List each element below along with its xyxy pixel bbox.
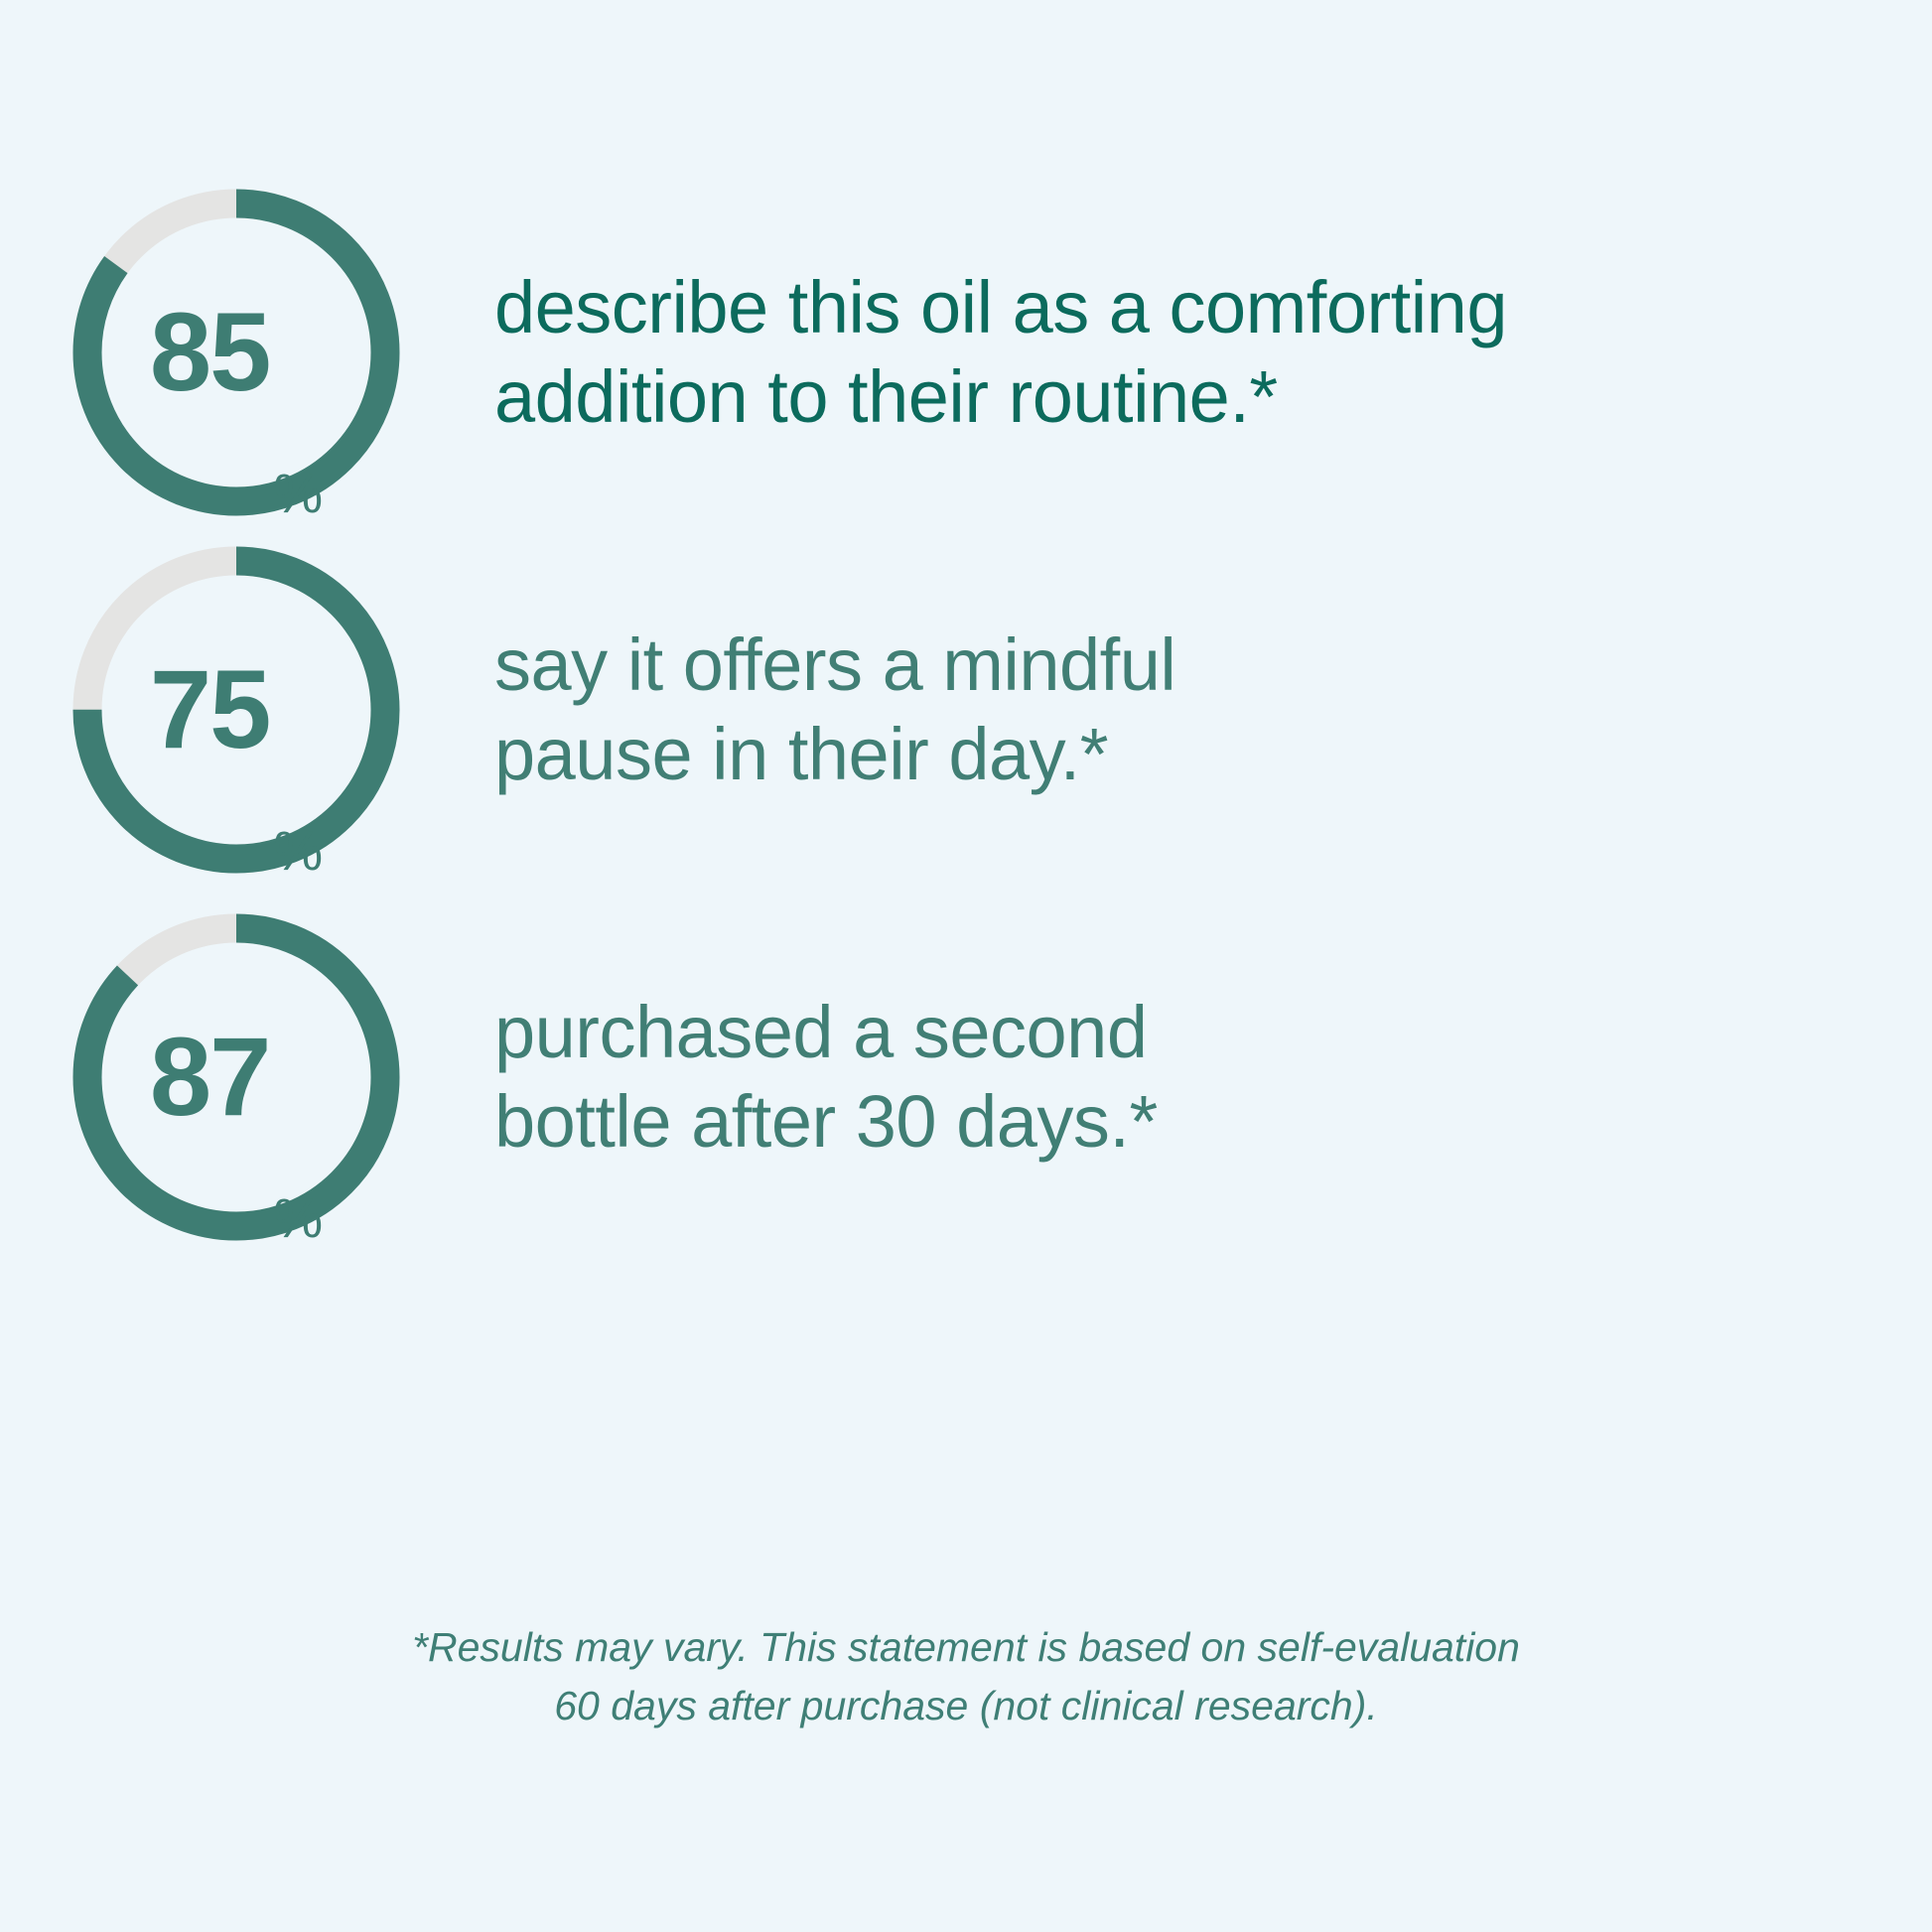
stat-statement: purchased a second bottle after 30 days.… [494, 988, 1932, 1168]
donut-value: 87 [150, 1022, 270, 1133]
infographic-page: 85% describe this oil as a comforting ad… [0, 0, 1932, 1932]
footnote-disclaimer: *Results may vary. This statement is bas… [0, 1618, 1932, 1736]
stat-statement-line: purchased a second [494, 988, 1872, 1077]
donut-value: 75 [150, 654, 270, 765]
donut-chart-87: 87% [58, 898, 415, 1256]
donut-chart-75: 75% [58, 531, 415, 889]
stat-statement: describe this oil as a comforting additi… [494, 263, 1932, 443]
stat-statement: say it offers a mindful pause in their d… [494, 621, 1932, 800]
footnote-line: *Results may vary. This statement is bas… [0, 1618, 1932, 1677]
stat-statement-line: addition to their routine.* [494, 352, 1872, 442]
percent-sign: % [273, 823, 323, 879]
stat-statement-line: describe this oil as a comforting [494, 263, 1872, 352]
stat-statement-line: say it offers a mindful [494, 621, 1872, 710]
footnote-line: 60 days after purchase (not clinical res… [0, 1677, 1932, 1735]
stat-row: 87% purchased a second bottle after 30 d… [0, 898, 1932, 1256]
donut-value: 85 [150, 297, 270, 408]
stat-statement-line: bottle after 30 days.* [494, 1077, 1872, 1167]
donut-label-group: 87% [58, 898, 415, 1256]
stat-row: 75% say it offers a mindful pause in the… [0, 531, 1932, 889]
percent-sign: % [273, 466, 323, 521]
stat-row: 85% describe this oil as a comforting ad… [0, 174, 1932, 531]
stat-statement-line: pause in their day.* [494, 710, 1872, 799]
donut-label-group: 85% [58, 174, 415, 531]
donut-chart-85: 85% [58, 174, 415, 531]
donut-label-group: 75% [58, 531, 415, 889]
percent-sign: % [273, 1190, 323, 1246]
